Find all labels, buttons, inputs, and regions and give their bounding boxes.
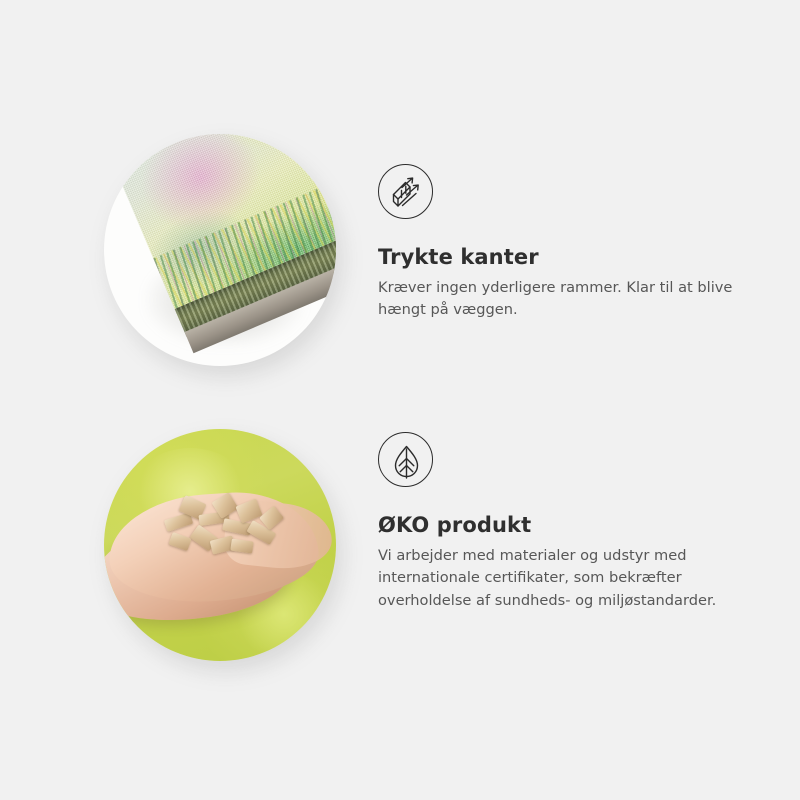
feature-content-eco-product: ØKO produkt Vi arbejder med materialer o… [378,432,758,612]
wood-chips-hands-photo [104,429,336,661]
feature-block-eco-product: ØKO produkt Vi arbejder med materialer o… [0,415,800,675]
feature-content-printed-edges: Trykte kanter Kræver ingen yderligere ra… [378,164,758,322]
product-features-page: Trykte kanter Kræver ingen yderligere ra… [0,0,800,800]
feature-title: Trykte kanter [378,245,758,270]
feature-block-printed-edges: Trykte kanter Kræver ingen yderligere ra… [0,120,800,380]
canvas-edges-icon [378,164,433,219]
feature-title: ØKO produkt [378,513,758,538]
feature-description: Kræver ingen yderligere rammer. Klar til… [378,277,750,321]
canvas-corner-photo [104,134,336,366]
feature-description: Vi arbejder med materialer og udstyr med… [378,545,750,612]
wood-chips-hands-photo-circle [104,429,336,661]
canvas-corner-photo-circle [104,134,336,366]
leaf-icon [378,432,433,487]
wood-chips-pile [160,489,295,568]
